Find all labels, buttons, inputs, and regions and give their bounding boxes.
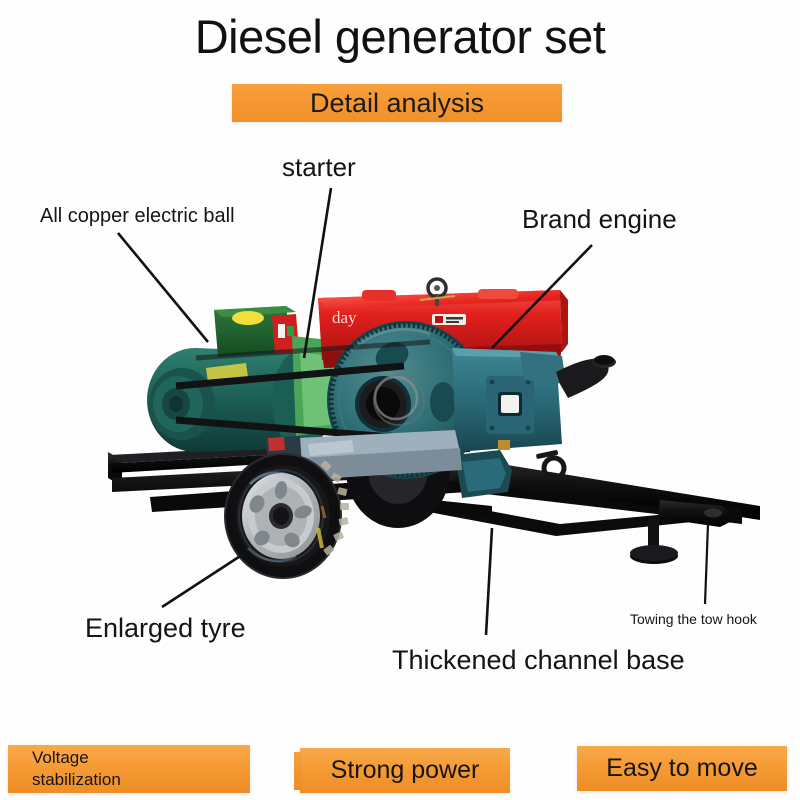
feature-strong-power-label: Strong power	[331, 756, 480, 785]
feature-badge-easy-to-move: Easy to move	[577, 746, 787, 791]
callout-thickened-channel-base: Thickened channel base	[392, 645, 685, 676]
product-detail-poster: Diesel generator set Detail analysis	[0, 0, 800, 800]
feature-easy-to-move-label: Easy to move	[606, 754, 757, 783]
feature-badge-strong-power: Strong power	[300, 748, 510, 793]
callout-starter: starter	[282, 152, 356, 183]
feature-voltage-line1: Voltage	[32, 748, 89, 767]
callout-enlarged-tyre: Enlarged tyre	[85, 613, 246, 644]
engine-block	[452, 348, 616, 452]
feature-voltage-line2: stabilization	[32, 770, 121, 789]
callout-brand-engine: Brand engine	[522, 204, 677, 235]
feature-badge-voltage-stabilization: Voltage stabilization	[8, 745, 250, 793]
callout-towing-the-tow-hook: Towing the tow hook	[630, 611, 757, 627]
tank-brand-text: day	[332, 308, 357, 327]
product-illustration: day	[0, 0, 800, 800]
callout-all-copper-electric-ball: All copper electric ball	[40, 205, 235, 228]
